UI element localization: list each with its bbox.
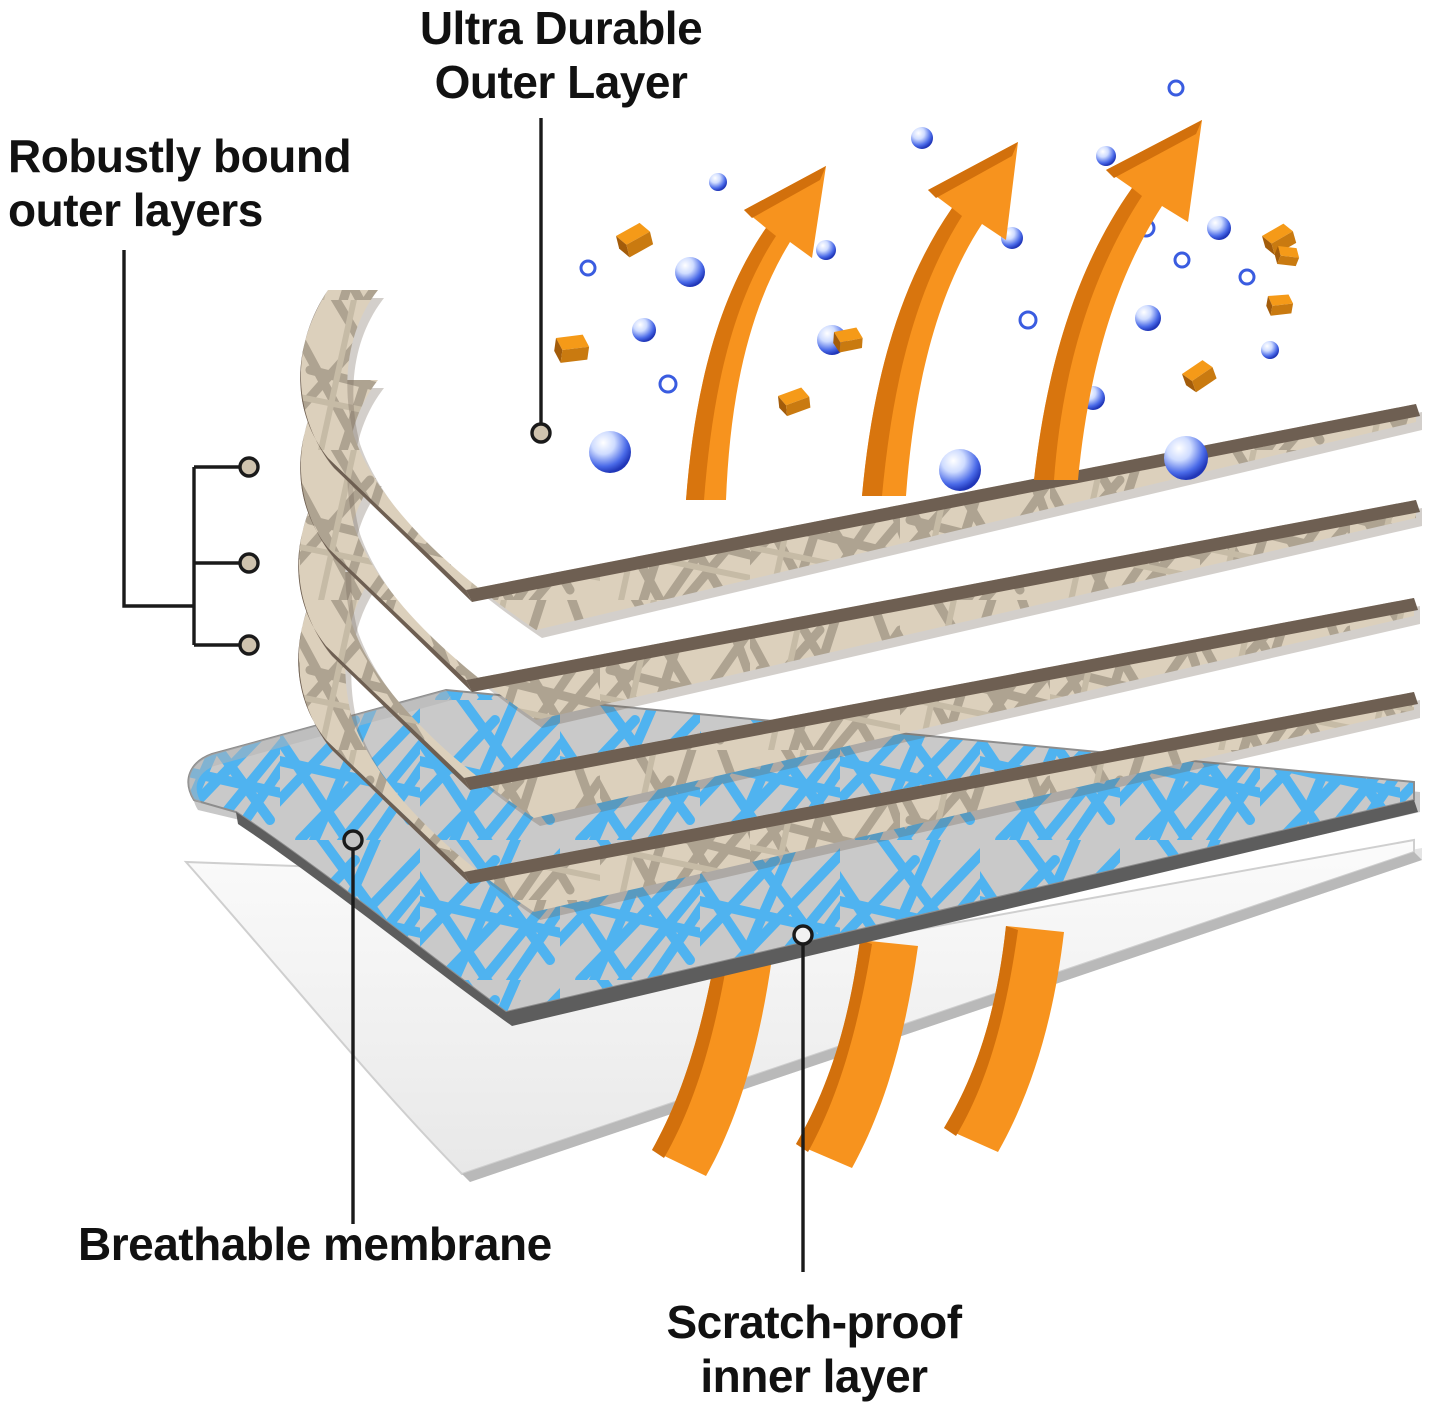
label-breathable-membrane: Breathable membrane (78, 1218, 678, 1272)
label-robustly-bound-outer-layers: Robustly bound outer layers (8, 130, 428, 238)
label-ultra-durable-outer-layer: Ultra Durable Outer Layer (396, 2, 726, 110)
label-scratch-proof-inner-layer: Scratch-proof inner layer (628, 1296, 1000, 1404)
vapour-arrows-up (686, 120, 1202, 500)
vapour-arrow-up-3 (1034, 120, 1202, 480)
vapour-arrow-up-2 (862, 142, 1018, 496)
leader-ultra-durable-outer-layer (532, 118, 550, 442)
diagram-canvas: Ultra Durable Outer Layer Robustly bound… (0, 0, 1445, 1410)
leader-robustly-bound-outer-layers (124, 250, 258, 654)
vapour-arrow-up-1 (686, 166, 826, 500)
